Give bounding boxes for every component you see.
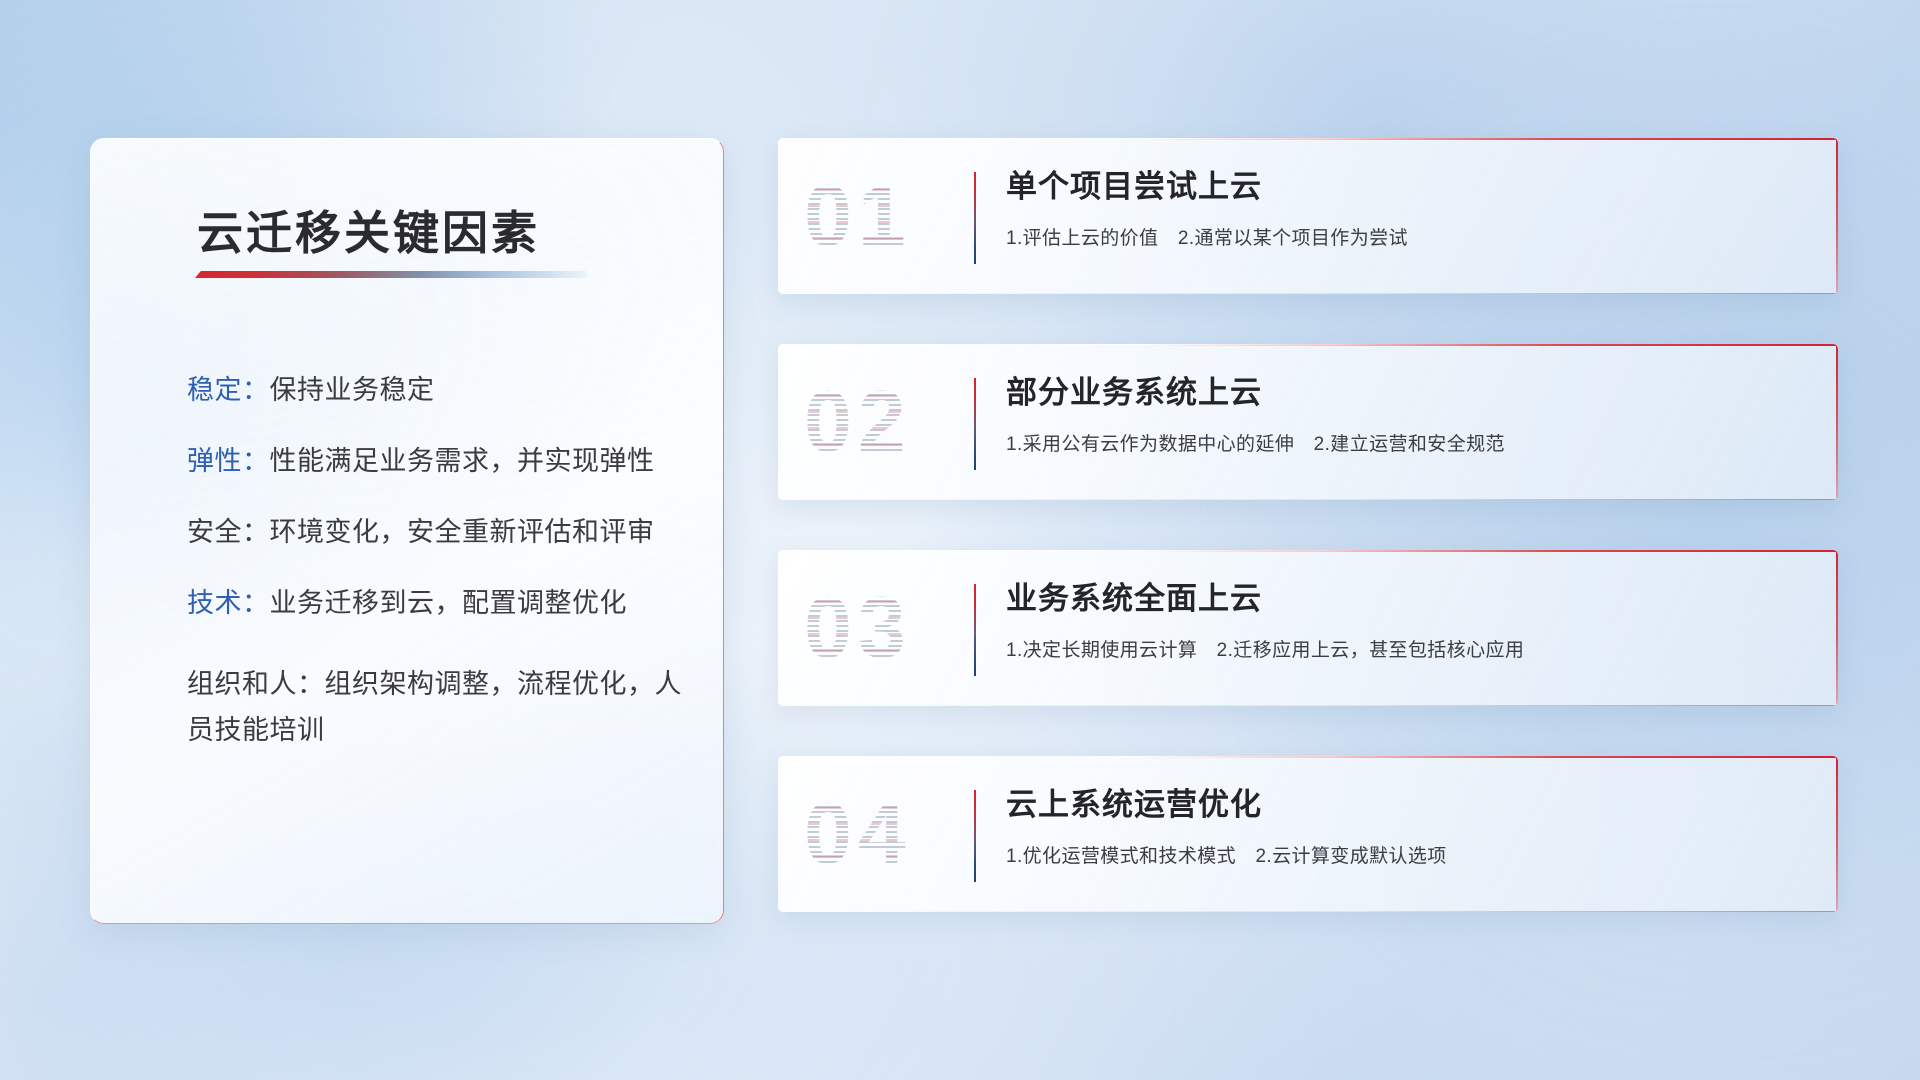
card-body: 单个项目尝试上云1.评估上云的价值 2.通常以某个项目作为尝试 xyxy=(1006,168,1810,250)
step-number-watermark-tint: 01 xyxy=(804,173,912,259)
key-factor-text: 性能满足业务需求，并实现弹性 xyxy=(270,446,655,476)
card-left-edge xyxy=(778,344,779,500)
card-body: 云上系统运营优化1.优化运营模式和技术模式 2.云计算变成默认选项 xyxy=(1006,786,1810,868)
key-factor-text: 保持业务稳定 xyxy=(270,375,435,405)
step-card[interactable]: 0303业务系统全面上云1.决定长期使用云计算 2.迁移应用上云，甚至包括核心应… xyxy=(778,550,1838,706)
key-factor-label: 安全： xyxy=(187,517,270,547)
title-underline-accent xyxy=(195,271,587,278)
step-number-watermark-tint: 03 xyxy=(804,585,912,671)
card-right-accent xyxy=(1836,550,1838,706)
card-top-accent xyxy=(778,756,1838,758)
step-description: 1.评估上云的价值 2.通常以某个项目作为尝试 xyxy=(1006,223,1810,250)
card-top-accent xyxy=(778,550,1838,552)
card-bottom-accent xyxy=(778,293,1838,294)
step-title: 业务系统全面上云 xyxy=(1006,580,1810,619)
step-card[interactable]: 0404云上系统运营优化1.优化运营模式和技术模式 2.云计算变成默认选项 xyxy=(778,756,1838,912)
migration-steps-list: 0101单个项目尝试上云1.评估上云的价值 2.通常以某个项目作为尝试0202部… xyxy=(778,138,1838,962)
card-divider-bar xyxy=(974,790,976,882)
step-number-watermark-tint: 04 xyxy=(804,791,912,877)
key-factor-row: 安全：环境变化，安全重新评估和评审 xyxy=(187,519,687,546)
step-title: 单个项目尝试上云 xyxy=(1006,168,1810,207)
card-top-accent xyxy=(778,138,1838,140)
card-divider-bar xyxy=(974,378,976,470)
card-right-accent xyxy=(1836,138,1838,294)
step-description: 1.采用公有云作为数据中心的延伸 2.建立运营和安全规范 xyxy=(1006,429,1810,456)
card-bottom-accent xyxy=(778,911,1838,912)
key-factor-row: 弹性：性能满足业务需求，并实现弹性 xyxy=(187,448,687,475)
step-card[interactable]: 0202部分业务系统上云1.采用公有云作为数据中心的延伸 2.建立运营和安全规范 xyxy=(778,344,1838,500)
key-factor-row: 技术：业务迁移到云，配置调整优化 xyxy=(187,590,687,617)
step-description: 1.优化运营模式和技术模式 2.云计算变成默认选项 xyxy=(1006,841,1810,868)
slide-canvas: 云迁移关键因素 稳定：保持业务稳定弹性：性能满足业务需求，并实现弹性安全：环境变… xyxy=(0,0,1920,1080)
key-factor-label: 弹性： xyxy=(187,446,270,476)
card-right-accent xyxy=(1836,756,1838,912)
card-left-edge xyxy=(778,756,779,912)
card-top-accent xyxy=(778,344,1838,346)
card-left-edge xyxy=(778,138,779,294)
key-factor-label: 组织和人： xyxy=(187,669,325,699)
step-description: 1.决定长期使用云计算 2.迁移应用上云，甚至包括核心应用 xyxy=(1006,635,1810,662)
card-right-accent xyxy=(1836,344,1838,500)
card-body: 业务系统全面上云1.决定长期使用云计算 2.迁移应用上云，甚至包括核心应用 xyxy=(1006,580,1810,662)
key-factor-text: 环境变化，安全重新评估和评审 xyxy=(270,517,655,547)
card-bottom-accent xyxy=(778,499,1838,500)
step-title: 云上系统运营优化 xyxy=(1006,786,1810,825)
key-factor-row: 稳定：保持业务稳定 xyxy=(187,377,687,404)
card-body: 部分业务系统上云1.采用公有云作为数据中心的延伸 2.建立运营和安全规范 xyxy=(1006,374,1810,456)
card-divider-bar xyxy=(974,584,976,676)
card-divider-bar xyxy=(974,172,976,264)
key-factor-text: 业务迁移到云，配置调整优化 xyxy=(270,588,628,618)
key-factor-label: 技术： xyxy=(187,588,270,618)
key-factors-panel: 云迁移关键因素 稳定：保持业务稳定弹性：性能满足业务需求，并实现弹性安全：环境变… xyxy=(90,138,724,924)
card-left-edge xyxy=(778,550,779,706)
card-bottom-accent xyxy=(778,705,1838,706)
key-factor-label: 稳定： xyxy=(187,375,270,405)
key-factor-row: 组织和人：组织架构调整，流程优化，人员技能培训 xyxy=(187,661,687,754)
step-title: 部分业务系统上云 xyxy=(1006,374,1810,413)
page-title: 云迁移关键因素 xyxy=(197,197,540,263)
step-number-watermark-tint: 02 xyxy=(804,379,912,465)
step-card[interactable]: 0101单个项目尝试上云1.评估上云的价值 2.通常以某个项目作为尝试 xyxy=(778,138,1838,294)
key-factors-list: 稳定：保持业务稳定弹性：性能满足业务需求，并实现弹性安全：环境变化，安全重新评估… xyxy=(187,377,687,798)
